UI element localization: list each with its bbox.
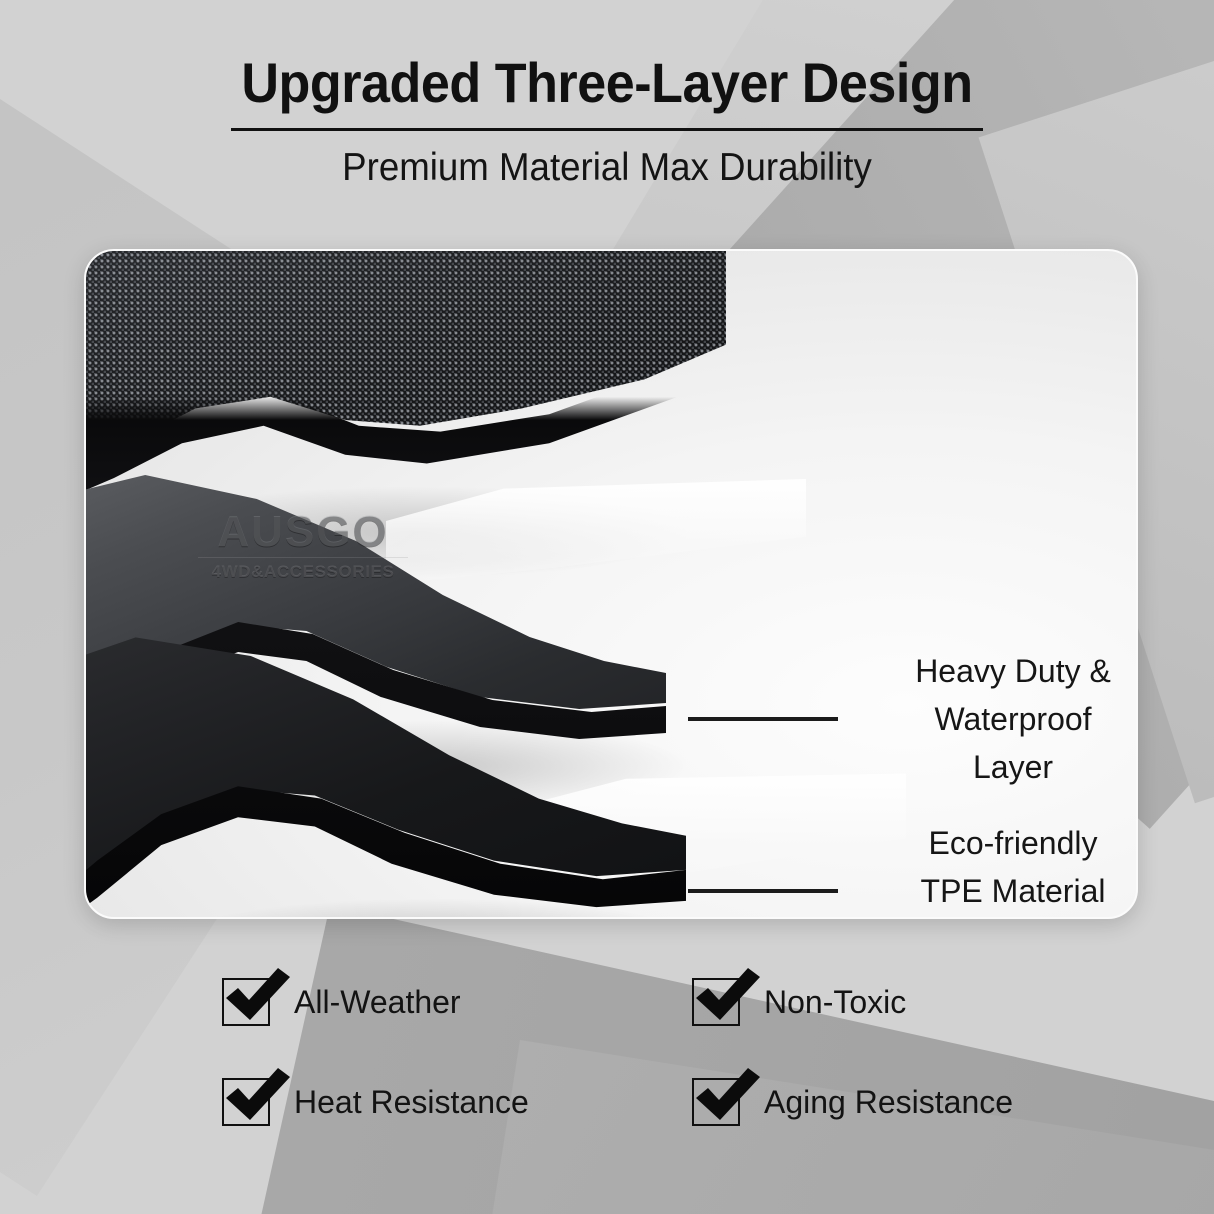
leader-line-middle — [688, 889, 838, 893]
checkbox-non-toxic[interactable] — [692, 978, 740, 1026]
callout-middle-layer: Eco-friendly TPE Material Layer — [688, 819, 1136, 919]
page-subtitle: Premium Material Max Durability — [36, 145, 1177, 191]
header: Upgraded Three-Layer Design Premium Mate… — [0, 52, 1214, 191]
callout-label-top: Heavy Duty & Waterproof Layer — [890, 647, 1136, 791]
page-title: Upgraded Three-Layer Design — [42, 52, 1171, 114]
exploded-layer-stack: AUSGO 4WD&ACCESSORIES — [86, 251, 1136, 917]
feature-item-non-toxic: Non-Toxic — [692, 978, 1082, 1026]
feature-checklist: All-Weather Non-Toxic Heat Resistance — [222, 978, 1082, 1126]
feature-item-all-weather: All-Weather — [222, 978, 692, 1026]
leader-line-top — [688, 717, 838, 721]
product-panel: AUSGO 4WD&ACCESSORIES Heavy Duty & Water… — [84, 249, 1138, 919]
checkbox-aging-resistance[interactable] — [692, 1078, 740, 1126]
infographic-canvas: Upgraded Three-Layer Design Premium Mate… — [0, 0, 1214, 1214]
callout-top-layer: Heavy Duty & Waterproof Layer — [688, 647, 1136, 791]
checkbox-all-weather[interactable] — [222, 978, 270, 1026]
callout-label-middle: Eco-friendly TPE Material Layer — [890, 819, 1136, 919]
check-icon — [222, 1068, 292, 1134]
title-divider — [231, 128, 983, 131]
feature-label-aging-resistance: Aging Resistance — [764, 1084, 1013, 1121]
feature-item-heat-resistance: Heat Resistance — [222, 1078, 692, 1126]
layer-non-slip-backing — [84, 625, 686, 919]
non-slip-surface — [84, 625, 686, 919]
feature-label-all-weather: All-Weather — [294, 984, 461, 1021]
check-icon — [222, 968, 292, 1034]
feature-item-aging-resistance: Aging Resistance — [692, 1078, 1082, 1126]
check-icon — [692, 968, 762, 1034]
check-icon — [692, 1068, 762, 1134]
feature-label-heat-resistance: Heat Resistance — [294, 1084, 529, 1121]
feature-label-non-toxic: Non-Toxic — [764, 984, 906, 1021]
checkbox-heat-resistance[interactable] — [222, 1078, 270, 1126]
